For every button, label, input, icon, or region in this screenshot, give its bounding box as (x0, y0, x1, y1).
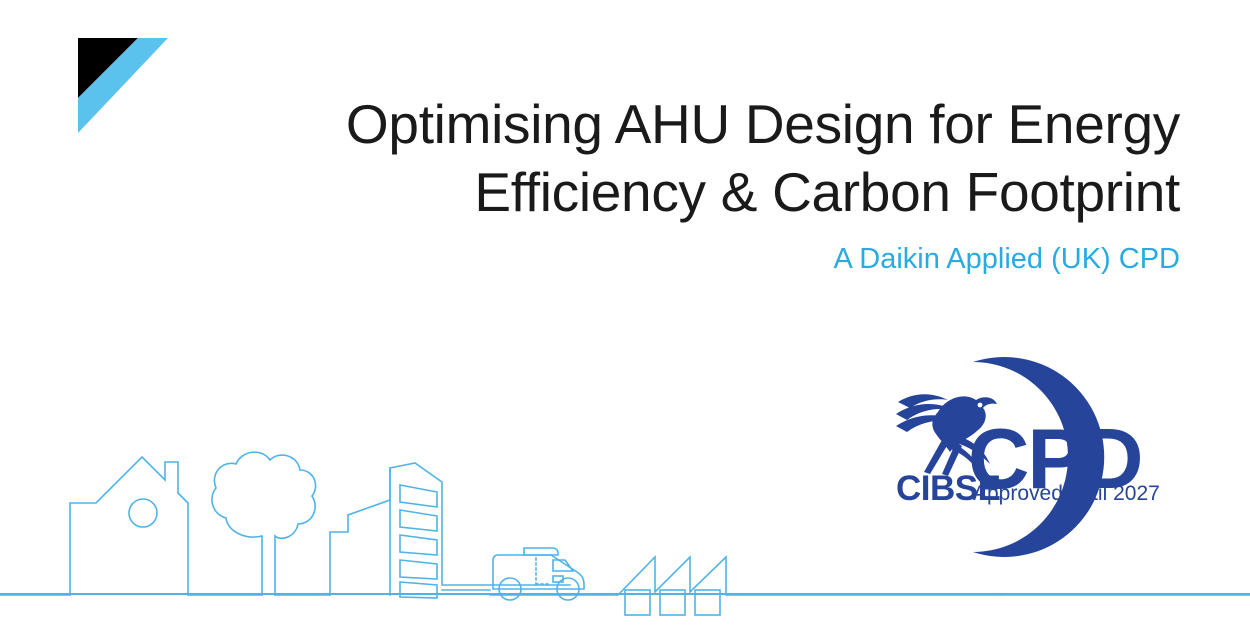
tower-window-1 (400, 485, 437, 507)
title-block: Optimising AHU Design for Energy Efficie… (220, 90, 1180, 276)
tree (212, 452, 316, 595)
van-roof-light (524, 548, 558, 555)
page-subtitle: A Daikin Applied (UK) CPD (220, 242, 1180, 276)
page-title-line-2: Efficiency & Carbon Footprint (220, 158, 1180, 226)
tower-window-4 (400, 560, 437, 579)
page-title-line-1: Optimising AHU Design for Energy (220, 90, 1180, 158)
house (70, 457, 188, 595)
delivery-van (493, 548, 584, 600)
van-windscreen (553, 560, 573, 571)
house-round-window (129, 499, 157, 527)
tower-window-2 (400, 510, 437, 531)
tower-window-3 (400, 535, 437, 555)
cityscape-illustration (0, 440, 1250, 625)
office-tower (330, 463, 570, 603)
tower-window-bottom (400, 582, 437, 598)
daikin-corner-logo (60, 25, 175, 140)
slide-canvas: Optimising AHU Design for Energy Efficie… (0, 0, 1250, 625)
